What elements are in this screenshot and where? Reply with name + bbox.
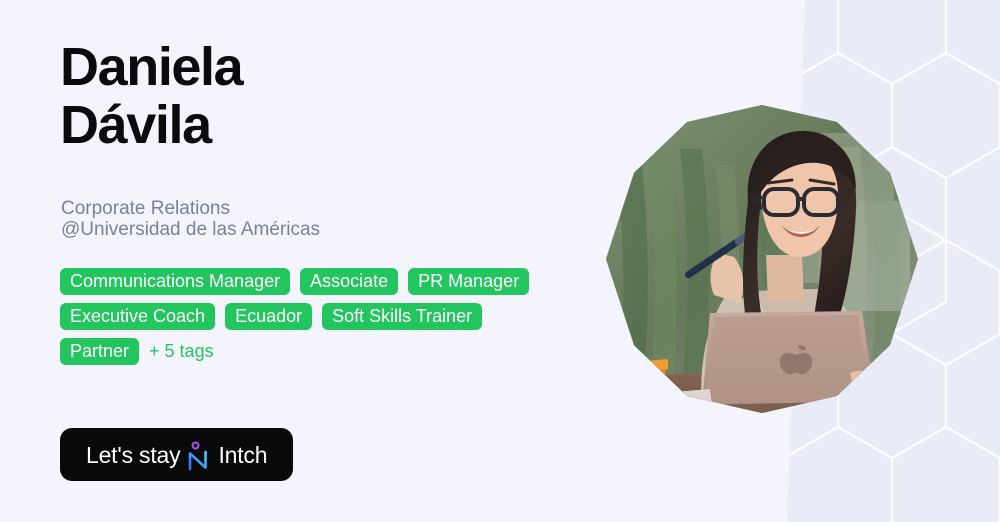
page-title: Daniela Dávila xyxy=(60,38,242,154)
tag-pill[interactable]: Communications Manager xyxy=(60,268,290,295)
cta-brand-name: Intch xyxy=(218,442,267,468)
lets-stay-intch-button[interactable]: Let's stay Intch xyxy=(60,428,293,481)
tag-list: Communications ManagerAssociatePR Manage… xyxy=(60,268,560,365)
intch-n-logo-icon xyxy=(186,441,212,471)
profile-card: Daniela Dávila Corporate Relations @Univ… xyxy=(0,0,1000,522)
tag-pill[interactable]: PR Manager xyxy=(408,268,529,295)
cta-text-before: Let's stay xyxy=(86,442,180,468)
tag-pill[interactable]: Soft Skills Trainer xyxy=(322,303,482,330)
tag-pill[interactable]: Ecuador xyxy=(225,303,312,330)
profile-subtitle: Corporate Relations @Universidad de las … xyxy=(61,198,320,240)
tags-more-label[interactable]: + 5 tags xyxy=(149,338,214,365)
profile-info-column: Daniela Dávila Corporate Relations @Univ… xyxy=(60,0,600,522)
tag-pill[interactable]: Executive Coach xyxy=(60,303,215,330)
tag-pill[interactable]: Partner xyxy=(60,338,139,365)
tag-pill[interactable]: Associate xyxy=(300,268,398,295)
